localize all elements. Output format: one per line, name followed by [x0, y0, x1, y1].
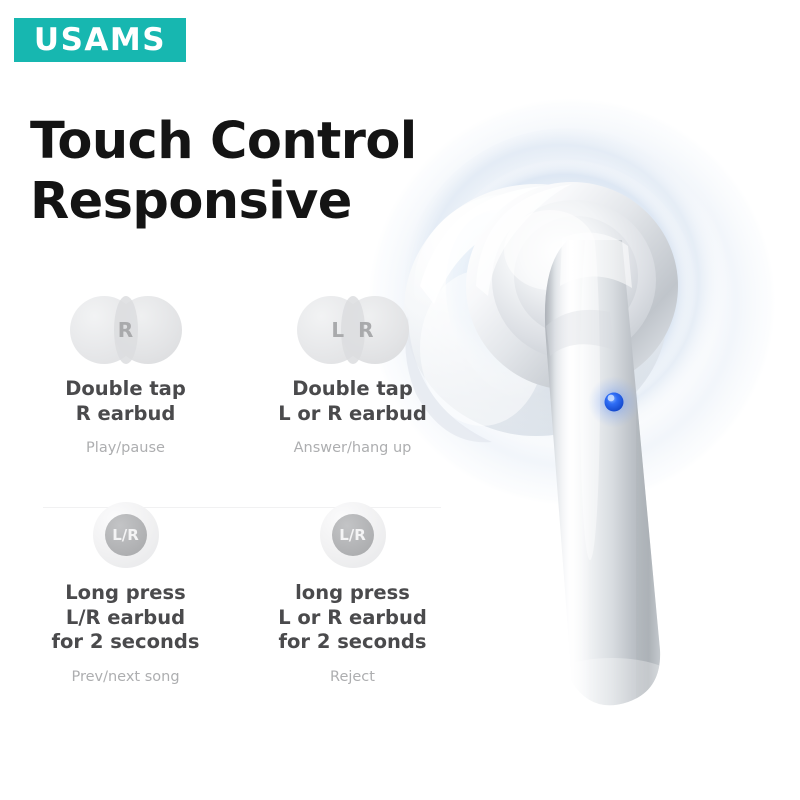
- ring-circle-icon: L/R: [320, 502, 386, 568]
- feature-title: long press L or R earbud for 2 seconds: [278, 581, 427, 655]
- feature-subtitle: Answer/hang up: [294, 440, 412, 456]
- feature-subtitle: Prev/next song: [71, 669, 179, 685]
- feature-row-2: L/R Long press L/R earbud for 2 seconds …: [0, 502, 460, 685]
- icon-letter-r: R: [118, 318, 133, 342]
- feature-subtitle: Reject: [330, 669, 375, 685]
- twin-circles-icon: L R: [297, 296, 409, 364]
- icon-letter-l: L: [331, 318, 344, 342]
- touch-control-feature-grid: R Double tap R earbud Play/pause L R Dou…: [0, 296, 460, 685]
- feature-row-1: R Double tap R earbud Play/pause L R Dou…: [0, 296, 460, 456]
- ring-circle-icon: L/R: [93, 502, 159, 568]
- feature-subtitle: Play/pause: [86, 440, 165, 456]
- feature-item-double-tap-l-or-r: L R Double tap L or R earbud Answer/hang…: [245, 296, 460, 456]
- icon-letters: R: [70, 296, 182, 364]
- brand-logo: USAMS: [14, 18, 186, 62]
- icon-letter-lr: L/R: [112, 526, 139, 544]
- feature-title: Double tap L or R earbud: [278, 377, 427, 426]
- ring-inner-icon: L/R: [105, 514, 147, 556]
- brand-logo-text: USAMS: [34, 25, 166, 56]
- ring-inner-icon: L/R: [332, 514, 374, 556]
- feature-item-double-tap-r: R Double tap R earbud Play/pause: [18, 296, 233, 456]
- twin-circles-icon: R: [70, 296, 182, 364]
- page-title: Touch Control Responsive: [30, 112, 417, 231]
- led-indicator: [588, 376, 640, 428]
- promo-image-canvas: USAMS Touch Control Responsive R Double …: [0, 0, 800, 800]
- icon-letters: L R: [297, 296, 409, 364]
- feature-item-long-press-l-or-r: L/R long press L or R earbud for 2 secon…: [245, 502, 460, 685]
- feature-title: Long press L/R earbud for 2 seconds: [52, 581, 200, 655]
- icon-letter-lr: L/R: [339, 526, 366, 544]
- feature-title: Double tap R earbud: [65, 377, 186, 426]
- feature-item-long-press-lr: L/R Long press L/R earbud for 2 seconds …: [18, 502, 233, 685]
- icon-letter-r: R: [358, 318, 373, 342]
